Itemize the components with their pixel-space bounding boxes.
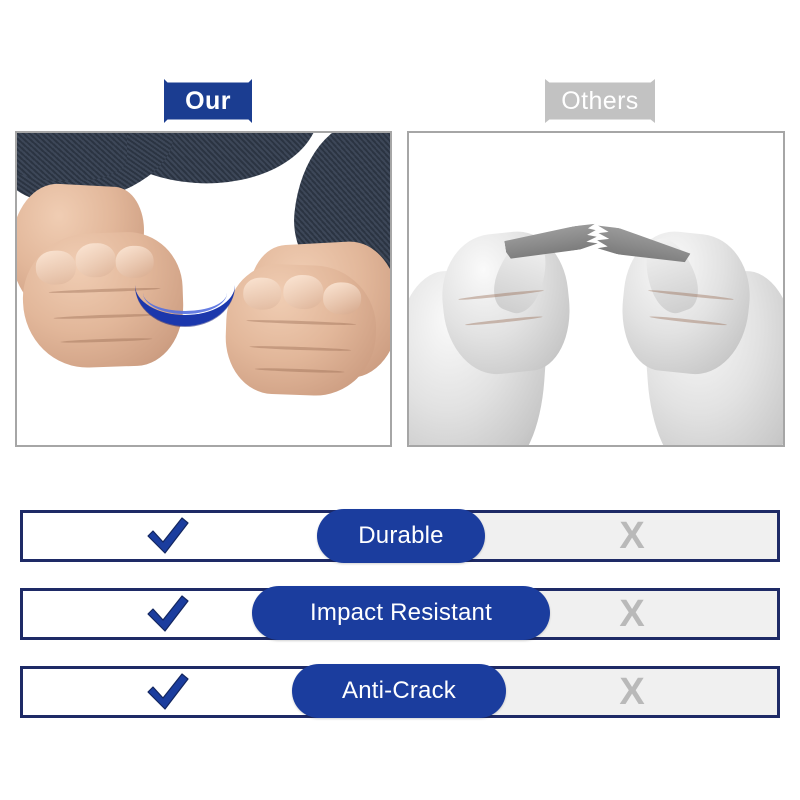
knuckle [75,243,116,278]
banner-our: Our [164,79,252,123]
banner-row: Our Others [0,0,800,128]
banner-others: Others [545,79,655,123]
others-cell: X [587,591,677,637]
x-icon: X [619,673,644,711]
photo-panel-ours [15,131,392,447]
finger-crease [255,367,345,373]
x-icon: X [619,517,644,555]
knuckle [323,282,362,315]
knuckle [115,245,154,278]
ours-cell [123,669,213,715]
feature-pill-durable[interactable]: Durable [317,509,485,563]
finger-crease [249,345,351,352]
photo-others-broken-tool [409,133,783,445]
x-icon: X [619,595,644,633]
check-icon [146,594,190,634]
ours-cell [123,591,213,637]
check-icon [146,516,190,556]
feature-pill-anti-crack[interactable]: Anti-Crack [292,664,506,718]
photo-panel-others [407,131,785,447]
others-cell: X [587,513,677,559]
finger-crease [60,337,152,343]
feature-pill-impact-resistant[interactable]: Impact Resistant [252,586,550,640]
photo-ours-flexible-tool [17,133,390,445]
knuckle [35,250,76,285]
knuckle [283,274,324,309]
others-cell: X [587,669,677,715]
ours-cell [123,513,213,559]
knuckle [243,277,282,310]
finger-crease [246,319,356,326]
finger-crease [54,313,158,320]
finger-crease [649,315,727,326]
check-icon [146,672,190,712]
sweater-cuff-left [17,133,127,181]
finger-crease [465,315,543,326]
right-fist [224,262,378,397]
